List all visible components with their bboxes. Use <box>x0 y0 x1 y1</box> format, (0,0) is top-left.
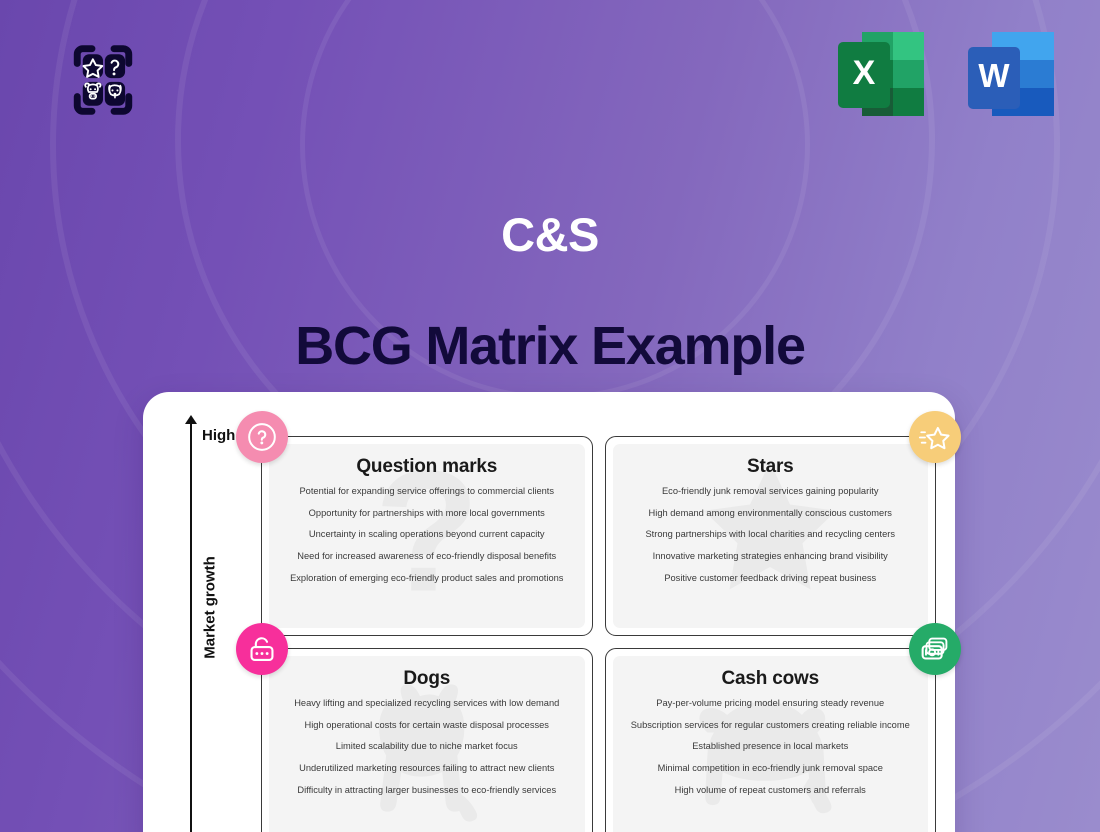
excel-icon[interactable]: X <box>832 28 932 124</box>
list-item: Eco-friendly junk removal services gaini… <box>613 486 929 496</box>
quadrant-item-list: Heavy lifting and specialized recycling … <box>269 698 585 807</box>
list-item: Heavy lifting and specialized recycling … <box>269 698 585 708</box>
axis-high-label: High <box>202 427 235 444</box>
quadrant-body: Dogs Heavy lifting and specialized recyc… <box>269 656 585 832</box>
list-item: Innovative marketing strategies enhancin… <box>613 551 929 561</box>
svg-text:X: X <box>853 54 876 92</box>
list-item: Uncertainty in scaling operations beyond… <box>269 529 585 539</box>
quadrant-grid: ? Question marks Potential for expanding… <box>261 436 936 832</box>
bcg-matrix-card: High Market growth ? Question marks <box>143 392 955 832</box>
list-item: Difficulty in attracting larger business… <box>269 785 585 795</box>
quadrant-title: Dogs <box>403 668 450 690</box>
list-item: Strong partnerships with local charities… <box>613 529 929 539</box>
market-growth-axis: High Market growth <box>180 419 240 832</box>
quadrant-dogs[interactable]: Dogs Heavy lifting and specialized recyc… <box>261 648 593 832</box>
word-icon[interactable]: W <box>962 28 1062 124</box>
quadrant-title: Stars <box>747 456 794 478</box>
quadrant-cash-cows[interactable]: Cash cows Pay-per-volume pricing model e… <box>605 648 937 832</box>
page-title: BCG Matrix Example <box>0 315 1100 377</box>
quadrant-body: ? Question marks Potential for expanding… <box>269 444 585 628</box>
bcg-animals-logo-icon <box>57 34 149 126</box>
list-item: Minimal competition in eco-friendly junk… <box>613 763 929 773</box>
quadrant-stars[interactable]: Stars Eco-friendly junk removal services… <box>605 436 937 636</box>
quadrant-item-list: Potential for expanding service offering… <box>269 486 585 595</box>
quadrant-title: Question marks <box>356 456 497 478</box>
brand-name: C&S <box>0 207 1100 262</box>
list-item: High operational costs for certain waste… <box>269 720 585 730</box>
list-item: Pay-per-volume pricing model ensuring st… <box>613 698 929 708</box>
list-item: Underutilized marketing resources failin… <box>269 763 585 773</box>
list-item: Subscription services for regular custom… <box>613 720 929 730</box>
list-item: Positive customer feedback driving repea… <box>613 573 929 583</box>
axis-line <box>190 422 192 832</box>
list-item: Potential for expanding service offering… <box>269 486 585 496</box>
quadrant-question-marks[interactable]: ? Question marks Potential for expanding… <box>261 436 593 636</box>
quadrant-body: Stars Eco-friendly junk removal services… <box>613 444 929 628</box>
question-mark-badge-icon <box>236 411 288 463</box>
quadrant-title: Cash cows <box>722 668 819 690</box>
list-item: Established presence in local markets <box>613 741 929 751</box>
quadrant-item-list: Eco-friendly junk removal services gaini… <box>613 486 929 595</box>
svg-text:W: W <box>978 57 1010 94</box>
office-icons-group: X W <box>832 28 1062 124</box>
list-item: Limited scalability due to niche market … <box>269 741 585 751</box>
list-item: Need for increased awareness of eco-frie… <box>269 551 585 561</box>
list-item: Exploration of emerging eco-friendly pro… <box>269 573 585 583</box>
list-item: Opportunity for partnerships with more l… <box>269 508 585 518</box>
quadrant-item-list: Pay-per-volume pricing model ensuring st… <box>613 698 929 807</box>
quadrant-body: Cash cows Pay-per-volume pricing model e… <box>613 656 929 832</box>
axis-title-label: Market growth <box>202 533 219 683</box>
list-item: High demand among environmentally consci… <box>613 508 929 518</box>
money-stack-badge-icon <box>909 623 961 675</box>
list-item: High volume of repeat customers and refe… <box>613 785 929 795</box>
star-badge-icon <box>909 411 961 463</box>
unlocked-padlock-badge-icon <box>236 623 288 675</box>
